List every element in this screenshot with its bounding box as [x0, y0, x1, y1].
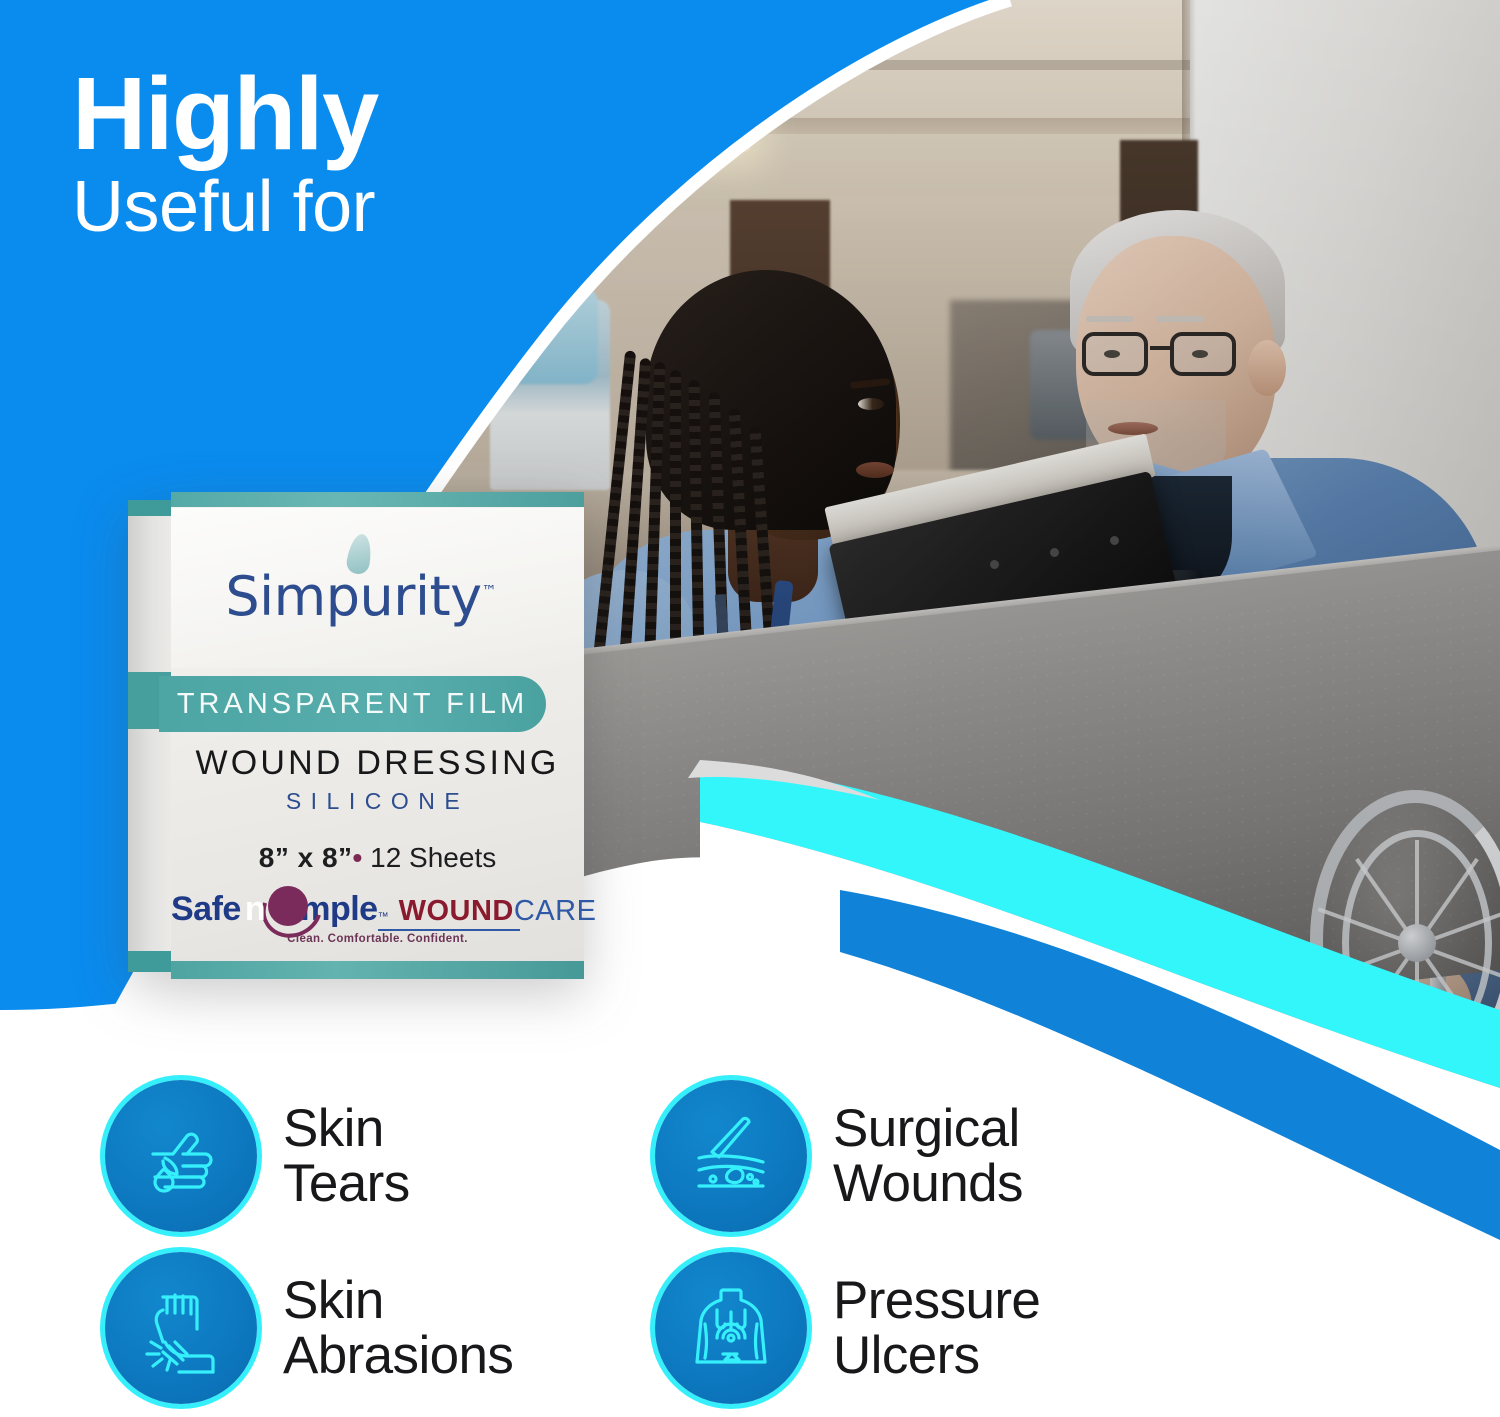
product-count: 12 Sheets [370, 842, 496, 873]
logo-tm-mark: ™ [378, 911, 389, 923]
product-box: Simpurity™ TRANSPARENT FILM WOUND DRESSI… [129, 492, 584, 979]
feature-item-pressure-ulcers[interactable]: Pressure Ulcers [655, 1252, 1040, 1404]
product-description-line-2: SILICONE [171, 788, 584, 815]
safe-n-simple-logo: SafenSimple™ WOUNDCARE Clean. Comfortabl… [171, 892, 584, 945]
logo-circle-swoosh [268, 886, 308, 926]
feature-label-skin-tears: Skin Tears [283, 1101, 410, 1211]
headline: Highly Useful for [72, 62, 378, 247]
feature-label-surgical-wounds: Surgical Wounds [833, 1101, 1023, 1211]
headline-line-1: Highly [72, 62, 378, 165]
skin-abrasions-icon [105, 1252, 257, 1404]
product-type-label: TRANSPARENT FILM [177, 688, 528, 721]
feature-label-pressure-ulcers: Pressure Ulcers [833, 1273, 1040, 1383]
feature-list: Skin Tears Surgical Wounds [0, 1068, 1500, 1417]
logo-tagline: Clean. Comfortable. Confident. [171, 933, 584, 945]
feature-item-skin-abrasions[interactable]: Skin Abrasions [105, 1252, 513, 1404]
size-separator-dot: • [353, 842, 363, 873]
skin-tears-icon [105, 1080, 257, 1232]
brand-name-text: Simpurity [225, 565, 481, 628]
headline-line-2: Useful for [72, 169, 378, 247]
brand-name: Simpurity™ [191, 570, 531, 624]
surgical-wounds-icon [655, 1080, 807, 1232]
feature-label-skin-abrasions: Skin Abrasions [283, 1273, 513, 1383]
product-size: 8” x 8” [259, 842, 353, 873]
marketing-banner: Highly Useful for Simpurity™ TRANSPARENT… [0, 0, 1500, 1417]
feature-item-surgical-wounds[interactable]: Surgical Wounds [655, 1080, 1023, 1232]
logo-wound: WOUND [399, 895, 514, 928]
product-description-line-1: WOUND DRESSING [171, 744, 584, 783]
logo-n: n [241, 892, 269, 926]
product-size-count: 8” x 8”• 12 Sheets [171, 842, 584, 874]
product-type-band: TRANSPARENT FILM [159, 676, 546, 732]
feature-item-skin-tears[interactable]: Skin Tears [105, 1080, 410, 1232]
pressure-ulcers-icon [655, 1252, 807, 1404]
logo-care: CARE [514, 895, 597, 928]
brand-tm-mark: ™ [482, 582, 497, 600]
logo-safe: Safe [171, 892, 241, 926]
box-side-panel [128, 500, 172, 972]
